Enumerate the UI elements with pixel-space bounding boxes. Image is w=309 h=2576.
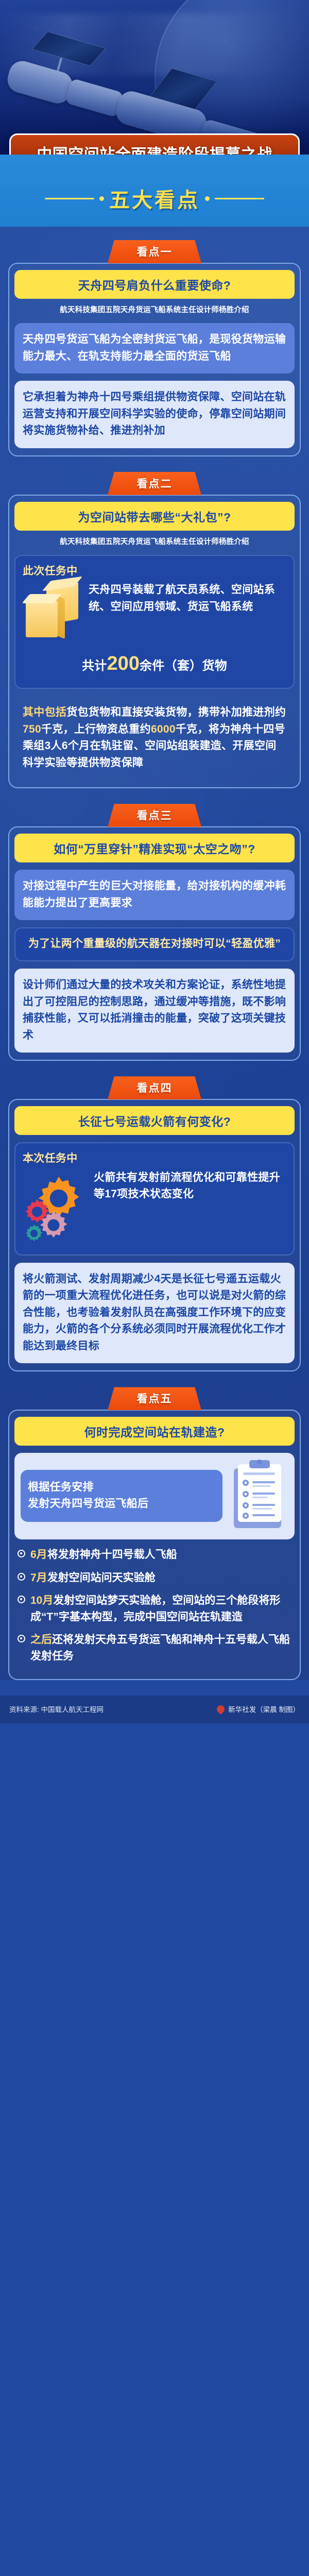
question-text: 为空间站带去哪些“大礼包”? bbox=[78, 511, 231, 524]
icon-paragraph: 火箭共有发射前流程优化和可靠性提升等17项技术状态变化 bbox=[94, 1170, 286, 1203]
rule-left bbox=[45, 198, 94, 199]
schedule-lead: 根据任务安排 发射天舟四号货运飞船后 bbox=[21, 1470, 222, 1522]
question-text: 长征七号运载火箭有何变化? bbox=[78, 1115, 231, 1128]
list-item: 10月发射空间站梦天实验舱，空间站的三个舱段将形成“T”字基本构型，完成中国空间… bbox=[18, 1592, 291, 1625]
dot-left-icon bbox=[99, 196, 104, 201]
cargo-count-stat: 共计200余件（套）货物 bbox=[23, 643, 286, 680]
section-tab-1: 看点一 bbox=[108, 240, 201, 263]
list-item-text: 之后还将发射天舟五号货运飞船和神舟十五号载人飞船发射任务 bbox=[30, 1632, 291, 1664]
launch-schedule-list: 6月将发射神舟十四号载人飞船 7月发射空间站问天实验舱 10月发射空间站梦天实验… bbox=[14, 1539, 295, 1672]
icon-text-row: 根据任务安排 发射天舟四号货运飞船后 bbox=[21, 1459, 288, 1532]
icon-text-row: 火箭共有发射前流程优化和可靠性提升等17项技术状态变化 bbox=[23, 1170, 286, 1247]
section-question-5: 何时完成空间站在轨建造? bbox=[14, 1417, 295, 1446]
list-item-text: 10月发射空间站梦天实验舱，空间站的三个舱段将形成“T”字基本构型，完成中国空间… bbox=[30, 1592, 291, 1625]
paragraph: 对接过程中产生的巨大对接能量，给对接机构的缓冲耗能能力提出了更高要求 bbox=[14, 870, 295, 920]
icon-text-row: 天舟四号装载了航天员系统、空间站系统、空间应用领域、货运飞船系统 bbox=[23, 582, 286, 643]
bullet-dot-icon bbox=[18, 1573, 25, 1581]
source-note: 资料来源: 中国载人航天工程网 bbox=[9, 1704, 104, 1714]
question-text: 如何“万里穿针”精准实现“太空之吻”? bbox=[54, 842, 255, 856]
section-tab-3: 看点三 bbox=[108, 804, 201, 827]
section-highlight-4: 看点四 长征七号运载火箭有何变化? 本次任务中 bbox=[8, 1076, 301, 1371]
lead-line-1: 根据任务安排 bbox=[28, 1479, 215, 1496]
blue-overlay bbox=[0, 0, 309, 155]
bullet-dot-icon bbox=[18, 1635, 25, 1642]
hero-banner: 中国空间站全面建造阶段揭幕之战 bbox=[0, 0, 309, 155]
question-text: 何时完成空间站在轨建造? bbox=[84, 1426, 225, 1439]
section-tab-label: 看点一 bbox=[137, 246, 173, 258]
subtitle-row: 五大看点 bbox=[0, 183, 309, 213]
lead-line-2: 发射天舟四号货运飞船后 bbox=[28, 1496, 215, 1513]
section-tab-5: 看点五 bbox=[108, 1387, 201, 1410]
section-credit-1: 航天科技集团五院天舟货运飞船系统主任设计师杨胜介绍 bbox=[14, 299, 295, 316]
paragraph: 将火箭测试、发射周期减少4天是长征七号遥五运载火箭的一项重大流程优化进任务，也可… bbox=[14, 1263, 295, 1364]
section-question-1: 天舟四号肩负什么重要使命? bbox=[14, 270, 295, 299]
sections-container: 看点一 天舟四号肩负什么重要使命? 航天科技集团五院天舟货运飞船系统主任设计师杨… bbox=[0, 227, 309, 1680]
list-item-text: 6月将发射神舟十四号载人飞船 bbox=[30, 1547, 177, 1563]
stat-suffix: 余件（套）货物 bbox=[140, 659, 227, 673]
paragraph: 其中包括货包货物和直接安装货物，携带补加推进剂约750千克，上行物资总重约600… bbox=[14, 696, 295, 780]
dot-right-icon bbox=[205, 196, 210, 201]
section-tab-label: 看点四 bbox=[137, 1082, 173, 1094]
section-question-4: 长征七号运载火箭有何变化? bbox=[14, 1106, 295, 1135]
paragraph: 天舟四号货运飞船为全密封货运飞船，是现役货物运输能力最大、在轨支持能力最全面的货… bbox=[14, 323, 295, 374]
section-tab-label: 看点二 bbox=[137, 478, 173, 490]
paragraph: 设计师们通过大量的技术攻关和方案论证，系统性地提出了可控阻尼的控制思路，通过缓冲… bbox=[14, 969, 295, 1053]
lead-text: 本次任务中 bbox=[23, 1150, 286, 1167]
agency-credit: 新华社发（梁晨 制图） bbox=[217, 1704, 300, 1714]
section-tab-label: 看点三 bbox=[137, 810, 173, 822]
bullet-dot-icon bbox=[18, 1550, 25, 1557]
section-highlight-5: 看点五 何时完成空间站在轨建造? 根据任务安排 发射天舟四号货运飞船后 bbox=[8, 1387, 301, 1680]
section-highlight-3: 看点三 如何“万里穿针”精准实现“太空之吻”? 对接过程中产生的巨大对接能量，给… bbox=[8, 804, 301, 1061]
infographic-page: 中国空间站全面建造阶段揭幕之战 五大看点 看点一 天舟四号肩负什么重要使命? 航… bbox=[0, 0, 309, 1723]
section-question-2: 为空间站带去哪些“大礼包”? bbox=[14, 502, 295, 531]
paragraph-highlight: 为了让两个重量级的航天器在对接时可以“轻盈优雅” bbox=[14, 927, 295, 961]
subtitle-zone: 五大看点 bbox=[0, 155, 309, 227]
icon-paragraph-block: 本次任务中 bbox=[14, 1142, 295, 1256]
list-item: 6月将发射神舟十四号载人飞船 bbox=[18, 1547, 291, 1563]
section-highlight-2: 看点二 为空间站带去哪些“大礼包”? 航天科技集团五院天舟货运飞船系统主任设计师… bbox=[8, 472, 301, 789]
section-card-3: 如何“万里穿针”精准实现“太空之吻”? 对接过程中产生的巨大对接能量，给对接机构… bbox=[8, 826, 301, 1061]
section-tab-4: 看点四 bbox=[108, 1076, 201, 1099]
section-highlight-1: 看点一 天舟四号肩负什么重要使命? 航天科技集团五院天舟货运飞船系统主任设计师杨… bbox=[8, 240, 301, 456]
list-item-text: 7月发射空间站问天实验舱 bbox=[30, 1570, 156, 1586]
section-tab-2: 看点二 bbox=[108, 472, 201, 495]
clipboard-checklist-icon bbox=[227, 1459, 288, 1532]
icon-paragraph: 天舟四号装载了航天员系统、空间站系统、空间应用领域、货运飞船系统 bbox=[89, 582, 286, 615]
section-question-3: 如何“万里穿针”精准实现“太空之吻”? bbox=[14, 834, 295, 862]
title-banner: 中国空间站全面建造阶段揭幕之战 bbox=[9, 133, 300, 155]
icon-paragraph-block: 此次任务中 天舟四号装载了航天员系统、空间站系统、空间应用领域、货运飞船系统 共… bbox=[14, 555, 295, 689]
paragraph: 它承担着为神舟十四号乘组提供物资保障、空间站在轨运营支持和开展空间科学实验的使命… bbox=[14, 381, 295, 448]
title-container: 中国空间站全面建造阶段揭幕之战 bbox=[0, 133, 309, 155]
question-text: 天舟四号肩负什么重要使命? bbox=[78, 279, 231, 292]
schedule-block: 根据任务安排 发射天舟四号货运飞船后 bbox=[14, 1453, 295, 1539]
section-card-5: 何时完成空间站在轨建造? 根据任务安排 发射天舟四号货运飞船后 bbox=[8, 1410, 301, 1680]
footer: 资料来源: 中国载人航天工程网 新华社发（梁晨 制图） bbox=[0, 1696, 309, 1723]
list-item: 之后还将发射天舟五号货运飞船和神舟十五号载人飞船发射任务 bbox=[18, 1632, 291, 1664]
package-box-icon bbox=[23, 582, 84, 643]
rule-right bbox=[215, 198, 264, 199]
section-card-2: 为空间站带去哪些“大礼包”? 航天科技集团五院天舟货运飞船系统主任设计师杨胜介绍… bbox=[8, 495, 301, 789]
lead-text: 此次任务中 bbox=[23, 563, 286, 580]
page-subtitle: 五大看点 bbox=[109, 183, 200, 213]
section-credit-2: 航天科技集团五院天舟货运飞船系统主任设计师杨胜介绍 bbox=[14, 531, 295, 548]
page-title: 中国空间站全面建造阶段揭幕之战 bbox=[16, 142, 293, 155]
gears-icon bbox=[23, 1170, 90, 1247]
section-card-1: 天舟四号肩负什么重要使命? 航天科技集团五院天舟货运飞船系统主任设计师杨胜介绍 … bbox=[8, 263, 301, 456]
stat-number: 200 bbox=[107, 653, 140, 674]
bullet-dot-icon bbox=[18, 1596, 25, 1603]
agency-text: 新华社发（梁晨 制图） bbox=[228, 1704, 300, 1714]
section-card-4: 长征七号运载火箭有何变化? 本次任务中 bbox=[8, 1099, 301, 1371]
gear-teal-icon bbox=[24, 1223, 44, 1244]
section-tab-label: 看点五 bbox=[137, 1393, 173, 1405]
xinhua-logo-icon bbox=[215, 1704, 226, 1715]
list-item: 7月发射空间站问天实验舱 bbox=[18, 1570, 291, 1586]
stat-prefix: 共计 bbox=[82, 659, 107, 673]
